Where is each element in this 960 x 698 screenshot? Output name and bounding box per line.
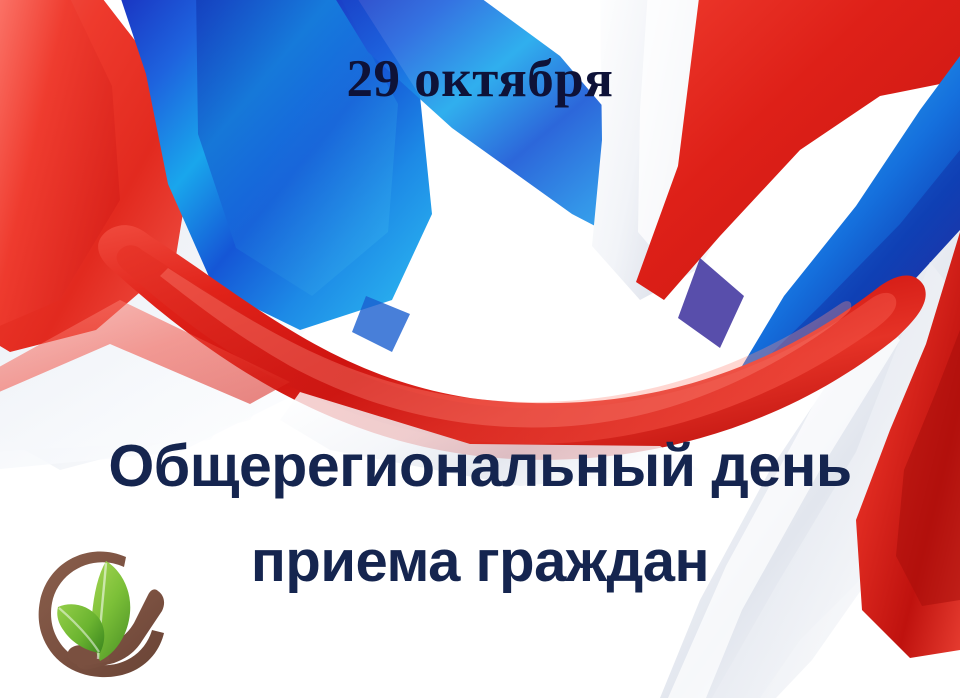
poster-canvas: 29 октября Общерегиональный день приема … [0, 0, 960, 698]
page-title-line-1: Общерегиональный день [0, 418, 960, 514]
event-date: 29 октября [0, 52, 960, 108]
leaf-in-hand-logo [30, 537, 172, 683]
